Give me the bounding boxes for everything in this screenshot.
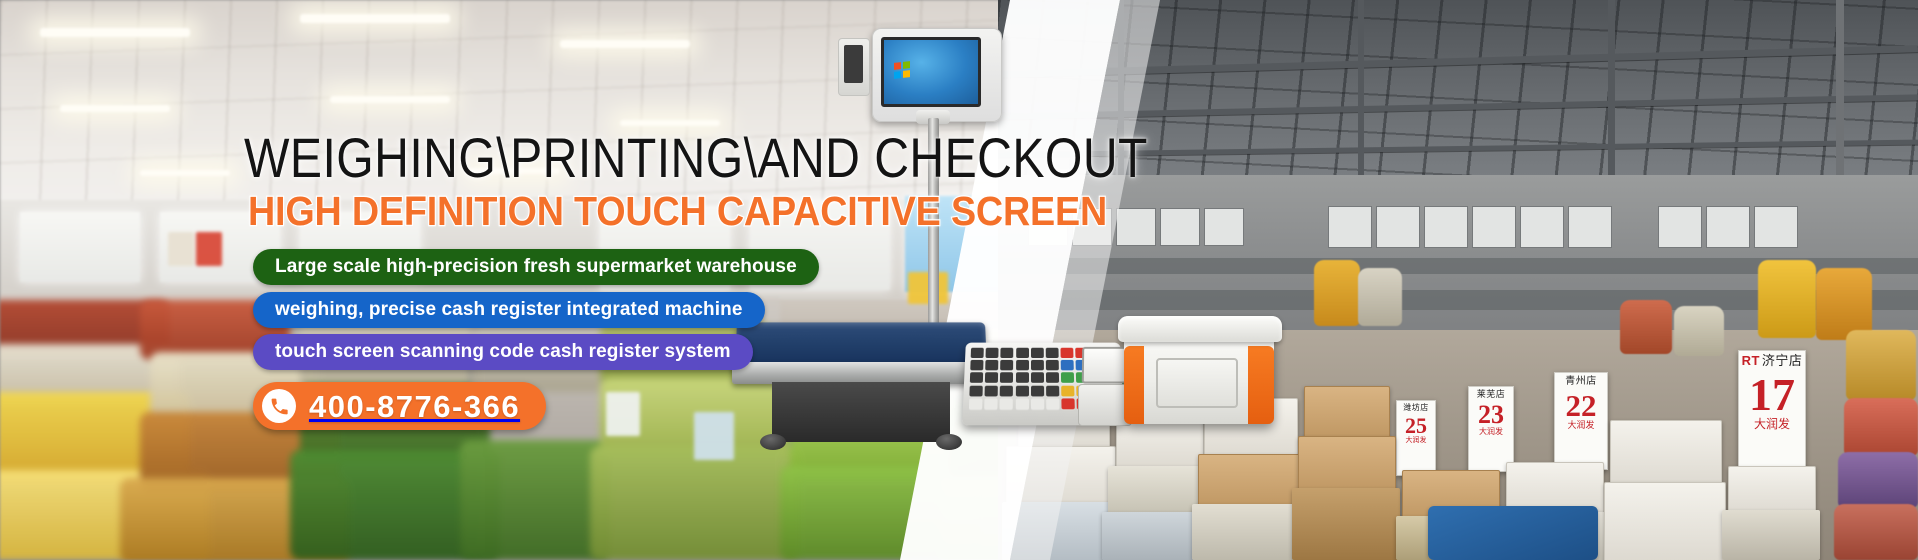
phone-number: 400-8776-366: [309, 391, 520, 422]
text-overlay: WEIGHING\PRINTING\AND CHECKOUT HIGH DEFI…: [0, 0, 1918, 560]
phone-cta-button[interactable]: 400-8776-366: [253, 382, 546, 430]
phone-icon: [262, 389, 296, 423]
feature-badge-2: weighing, precise cash register integrat…: [253, 292, 765, 328]
promo-banner: 潍坊店 25 大润发 莱芜店 23 大润发 青州店 22 大润发 RT济宁店 1…: [0, 0, 1918, 560]
feature-badge-3: touch screen scanning code cash register…: [253, 334, 753, 370]
feature-badge-1: Large scale high-precision fresh superma…: [253, 249, 819, 285]
subheadline: HIGH DEFINITION TOUCH CAPACITIVE SCREEN: [248, 191, 1107, 232]
headline: WEIGHING\PRINTING\AND CHECKOUT: [244, 130, 1148, 186]
